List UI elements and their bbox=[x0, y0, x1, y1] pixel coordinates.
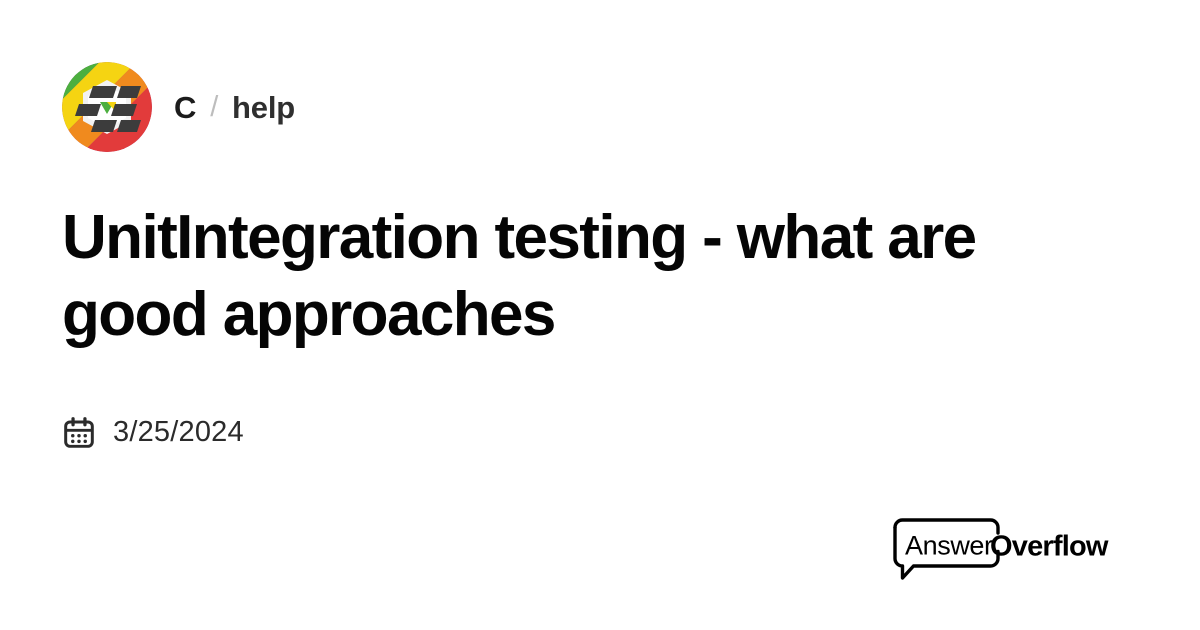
brand-name-regular: Answer bbox=[905, 531, 993, 561]
answer-overflow-logo: Answer Overflow bbox=[886, 518, 1112, 580]
brand-name-bold: Overflow bbox=[990, 531, 1109, 563]
breadcrumb: C / help bbox=[62, 62, 1136, 152]
breadcrumb-server-name[interactable]: C bbox=[174, 92, 196, 123]
post-date-row: 3/25/2024 bbox=[62, 416, 1136, 450]
post-title: UnitIntegration testing - what are good … bbox=[62, 200, 1012, 354]
post-date: 3/25/2024 bbox=[113, 418, 244, 447]
calendar-icon bbox=[62, 416, 96, 450]
server-avatar bbox=[62, 62, 152, 152]
breadcrumb-trail: C / help bbox=[174, 92, 295, 123]
breadcrumb-channel-name[interactable]: help bbox=[232, 92, 295, 123]
breadcrumb-separator: / bbox=[210, 93, 218, 122]
preview-card: C / help UnitIntegration testing - what … bbox=[0, 0, 1200, 630]
